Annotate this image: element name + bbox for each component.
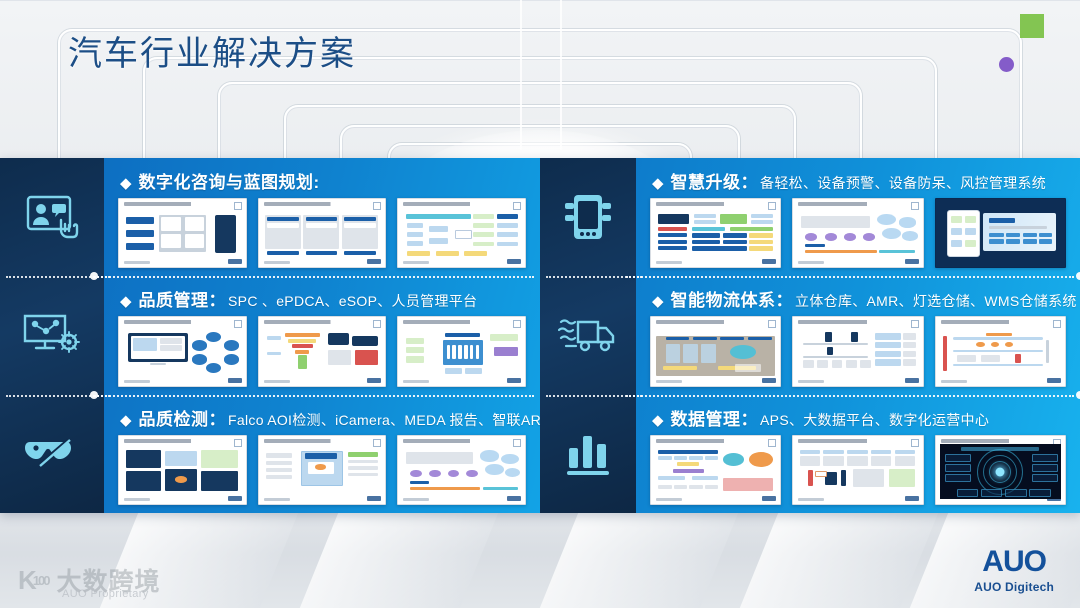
amr-automation-thumb[interactable]: [792, 316, 923, 386]
heading-title: 品质管理：: [139, 286, 227, 311]
heading-title: 数据管理：: [671, 405, 759, 430]
diamond-bullet-icon: ◆: [120, 413, 132, 428]
falco-aoi-inspection-thumb[interactable]: [118, 435, 247, 505]
smart-ar-thumb[interactable]: [397, 435, 526, 505]
heading-title: 智慧升级：: [671, 168, 759, 193]
wms-system-thumb[interactable]: [935, 316, 1066, 386]
heading-subtitle: SPC 、ePDCA、eSOP、人员管理平台: [228, 291, 477, 311]
right-half: ◆ 智慧升级： 备轻松、设备预警、设备防呆、风控管理系统: [540, 158, 1080, 513]
diamond-bullet-icon: ◆: [652, 413, 664, 428]
heading-title: 品质检测：: [139, 405, 227, 430]
stereo-warehouse-thumb[interactable]: [650, 316, 781, 386]
delivery-truck-icon: [558, 314, 618, 356]
auo-logo: AUO AUO Digitech: [974, 547, 1054, 594]
bigdata-platform-thumb[interactable]: [792, 435, 923, 505]
heading-quality-inspection: ◆ 品质检测： Falco AOI检测、iCamera、MEDA 报告、智联AR: [120, 405, 526, 430]
row-digital-consulting: ◆ 数字化咨询与蓝图规划:: [104, 158, 540, 276]
row-quality-management: ◆ 品质管理： SPC 、ePDCA、eSOP、人员管理平台: [104, 276, 540, 394]
icon-cell-consulting: [0, 158, 104, 276]
diamond-bullet-icon: ◆: [120, 294, 132, 309]
thumbnail-strip: [118, 316, 526, 390]
heading-subtitle: 立体仓库、AMR、灯选仓储、WMS仓储系统: [795, 291, 1077, 311]
ar-glasses-icon: [24, 434, 80, 474]
solutions-panel: ◆ 数字化咨询与蓝图规划:: [0, 158, 1080, 513]
smart-ar-app-thumb[interactable]: [792, 198, 923, 268]
footer: K 100 大数跨境 AUO Proprietary AUO AUO Digit…: [0, 513, 1080, 608]
icon-cell-smart-upgrade: [540, 158, 636, 276]
blueprint-value-thumb[interactable]: [258, 198, 387, 268]
left-content: ◆ 数字化咨询与蓝图规划:: [104, 158, 540, 513]
heading-subtitle: 备轻松、设备预警、设备防呆、风控管理系统: [760, 173, 1046, 193]
esop-platform-thumb[interactable]: [397, 316, 526, 386]
heading-data-management: ◆ 数据管理： APS、大数据平台、数字化运营中心: [652, 405, 1066, 430]
icon-cell-smart-logistics: [540, 276, 636, 394]
smart-machine-icon: [565, 193, 611, 241]
decorative-purple-circle: [999, 57, 1014, 72]
row-quality-inspection: ◆ 品质检测： Falco AOI检测、iCamera、MEDA 报告、智联AR: [104, 395, 540, 513]
row-smart-logistics: ◆ 智能物流体系： 立体仓库、AMR、灯选仓储、WMS仓储系统: [636, 276, 1080, 394]
meda-report-thumb[interactable]: [258, 435, 387, 505]
thumbnail-strip: [650, 316, 1066, 390]
left-half: ◆ 数字化咨询与蓝图规划:: [0, 158, 540, 513]
heading-digital-consulting: ◆ 数字化咨询与蓝图规划:: [120, 168, 526, 193]
icon-cell-quality-inspection: [0, 395, 104, 513]
left-icon-column: [0, 158, 104, 513]
heading-title: 智能物流体系：: [671, 286, 794, 311]
digital-consulting-framework-thumb[interactable]: [118, 198, 247, 268]
slide-canvas: 汽车行业解决方案: [0, 0, 1080, 608]
epdca-funnel-thumb[interactable]: [258, 316, 387, 386]
diamond-bullet-icon: ◆: [120, 176, 132, 191]
heading-quality-management: ◆ 品质管理： SPC 、ePDCA、eSOP、人员管理平台: [120, 286, 526, 311]
spc-system-thumb[interactable]: [118, 316, 247, 386]
row-smart-upgrade: ◆ 智慧升级： 备轻松、设备预警、设备防呆、风控管理系统: [636, 158, 1080, 276]
right-content: ◆ 智慧升级： 备轻松、设备预警、设备防呆、风控管理系统: [636, 158, 1080, 513]
aps-platform-thumb[interactable]: [650, 435, 781, 505]
thumbnail-strip: [118, 198, 526, 272]
consulting-screen-hand-icon: [25, 194, 79, 240]
right-icon-column: [540, 158, 636, 513]
digital-operation-center-thumb[interactable]: [935, 435, 1066, 505]
equipment-warning-thumb[interactable]: [650, 198, 781, 268]
heading-title: 数字化咨询与蓝图规划:: [139, 168, 320, 193]
smart-factory-blueprint-thumb[interactable]: [397, 198, 526, 268]
auo-subbrand: AUO Digitech: [974, 580, 1054, 594]
heading-subtitle: APS、大数据平台、数字化运营中心: [760, 410, 989, 430]
bar-chart-icon: [563, 432, 613, 476]
phone-mockup: [947, 210, 981, 258]
monitor-network-gear-icon: [22, 312, 82, 358]
thumbnail-strip: [650, 435, 1066, 509]
cyber-dashboard: [940, 444, 1061, 499]
heading-smart-logistics: ◆ 智能物流体系： 立体仓库、AMR、灯选仓储、WMS仓储系统: [652, 286, 1066, 311]
icon-cell-data-management: [540, 395, 636, 513]
page-title: 汽车行业解决方案: [68, 26, 356, 75]
diamond-bullet-icon: ◆: [652, 294, 664, 309]
heading-smart-upgrade: ◆ 智慧升级： 备轻松、设备预警、设备防呆、风控管理系统: [652, 168, 1066, 193]
row-data-management: ◆ 数据管理： APS、大数据平台、数字化运营中心: [636, 395, 1080, 513]
diamond-bullet-icon: ◆: [652, 176, 664, 191]
beiqingsong-app-thumb[interactable]: [935, 198, 1066, 268]
proprietary-notice: AUO Proprietary: [62, 588, 149, 600]
decorative-green-square: [1020, 14, 1044, 38]
thumbnail-strip: [118, 435, 526, 509]
app-info-card: [983, 213, 1056, 251]
watermark-sup: 100: [33, 573, 49, 588]
heading-subtitle: Falco AOI检测、iCamera、MEDA 报告、智联AR: [228, 410, 541, 430]
thumbnail-strip: [650, 198, 1066, 272]
auo-wordmark: AUO: [974, 547, 1054, 577]
icon-cell-quality-management: [0, 276, 104, 394]
